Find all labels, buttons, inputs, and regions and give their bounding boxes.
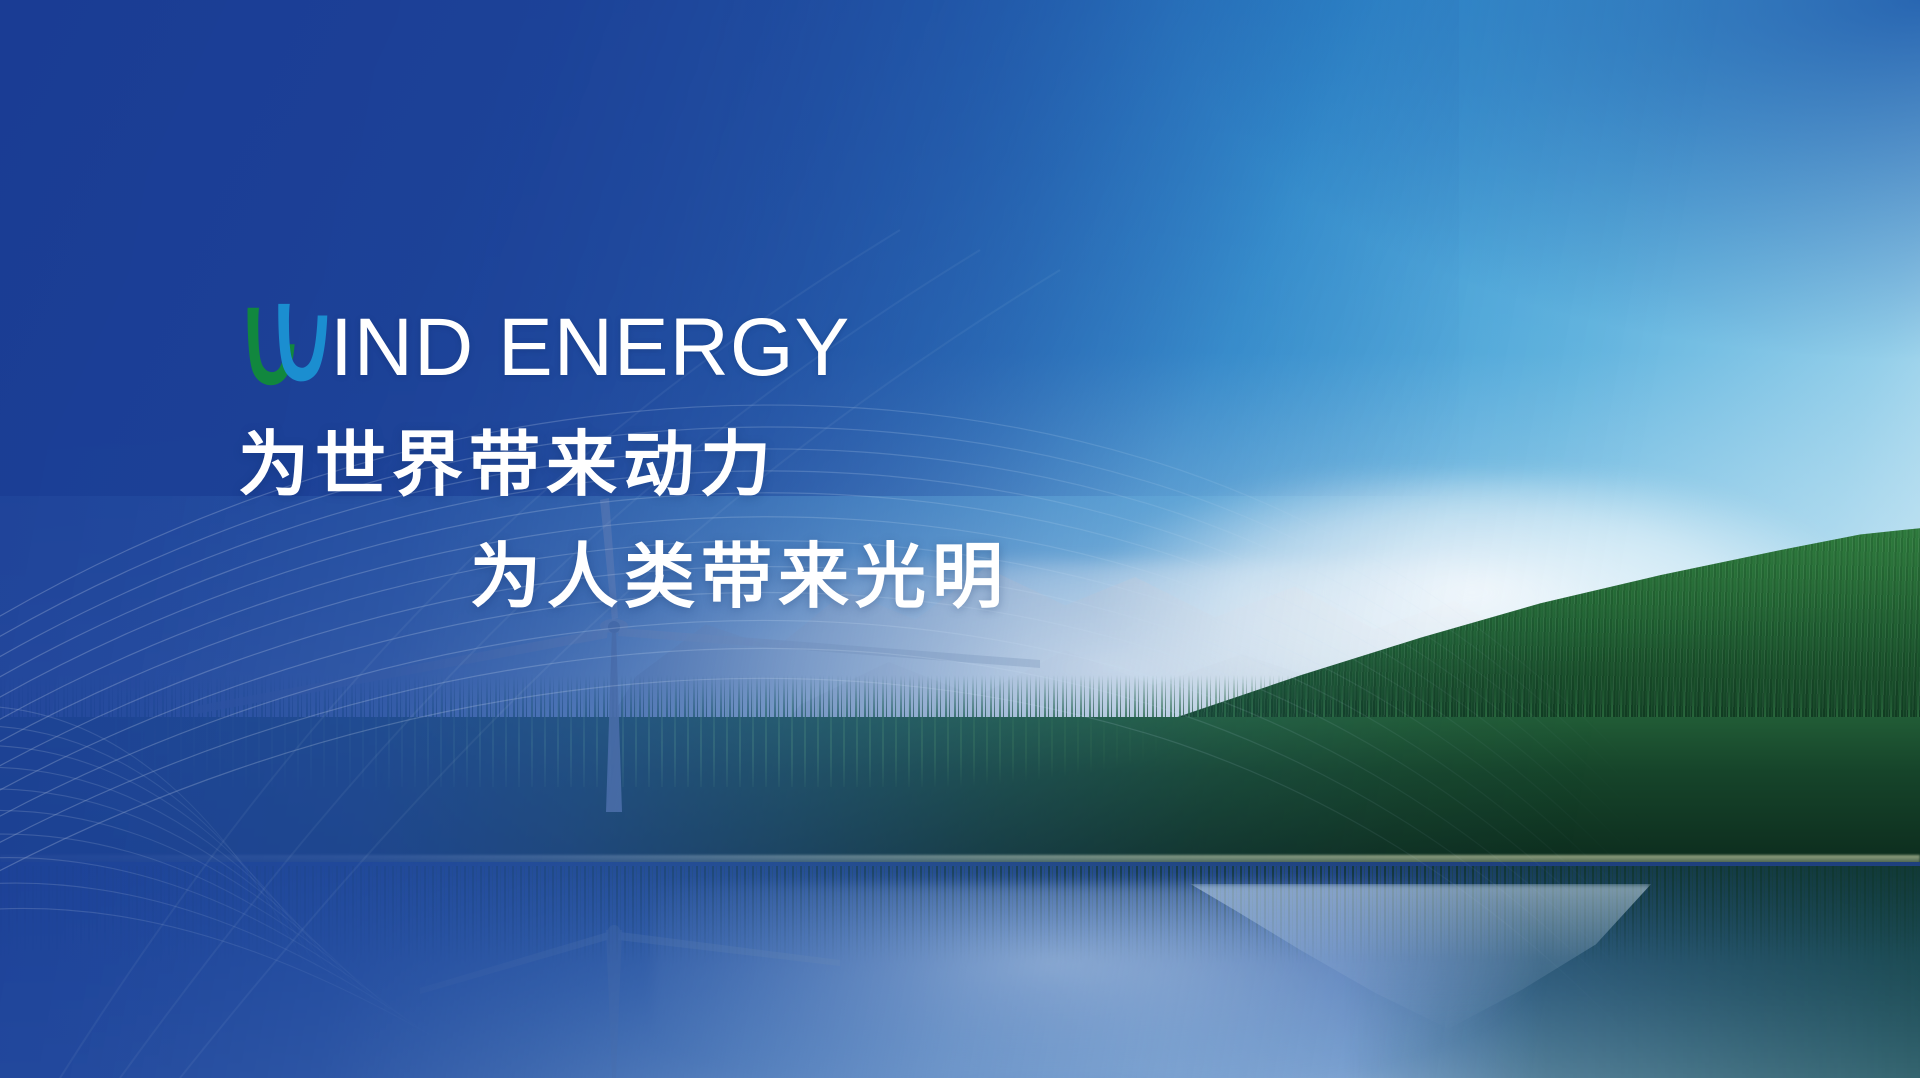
wind-energy-w-logo-icon [238, 302, 334, 398]
hero-banner: IND ENERGY 为世界带来动力 为人类带来光明 [0, 0, 1920, 1078]
brand-wordmark: IND ENERGY [330, 307, 850, 389]
slogan-line-1: 为世界带来动力 [238, 420, 1338, 512]
slogan-line-2: 为人类带来光明 [238, 532, 1338, 624]
hero-content: IND ENERGY 为世界带来动力 为人类带来光明 [238, 296, 1338, 625]
brand-lockup: IND ENERGY [238, 296, 1338, 400]
